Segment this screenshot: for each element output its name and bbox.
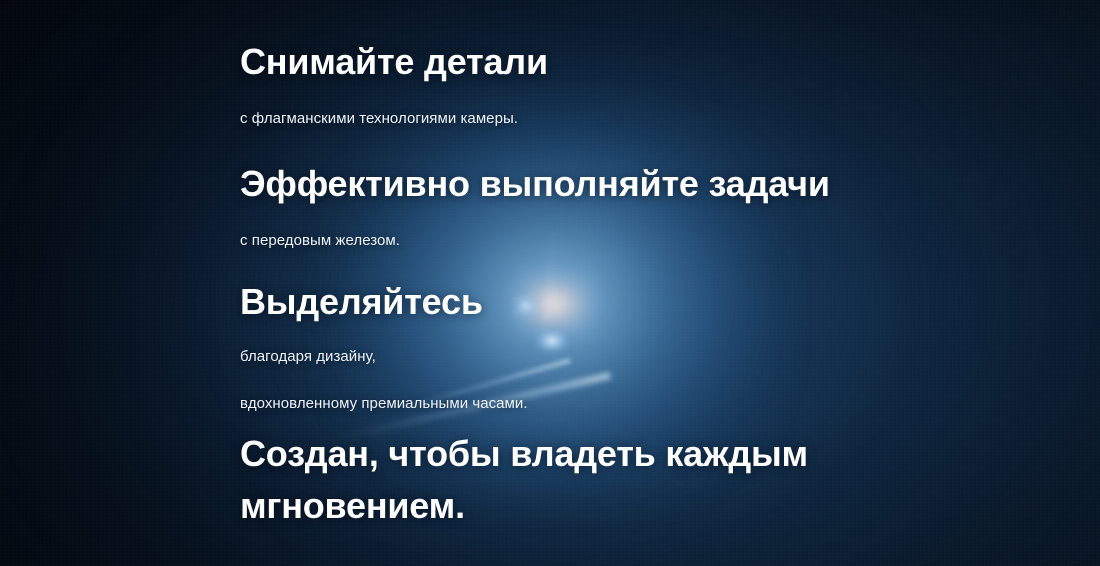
closing-headline-line-2: мгновением. bbox=[240, 480, 808, 532]
closing-headline-line-1: Создан, чтобы владеть каждым bbox=[240, 428, 808, 480]
closing-statement-block: Создан, чтобы владеть каждым мгновением. bbox=[240, 428, 808, 532]
feature-block-camera: Снимайте детали с флагманскими технологи… bbox=[240, 42, 548, 131]
promo-banner: Снимайте детали с флагманскими технологи… bbox=[0, 0, 1100, 566]
feature-headline-performance: Эффективно выполняйте задачи bbox=[240, 164, 830, 204]
feature-subline-design-line-1: благодаря дизайну, bbox=[240, 346, 528, 368]
feature-headline-camera: Снимайте детали bbox=[240, 42, 548, 82]
feature-block-design: Выделяйтесь благодаря дизайну, вдохновле… bbox=[240, 282, 528, 415]
feature-block-performance: Эффективно выполняйте задачи с передовым… bbox=[240, 164, 830, 253]
feature-subline-design-line-2: вдохновленному премиальными часами. bbox=[240, 393, 528, 415]
feature-subline-performance: с передовым железом. bbox=[240, 230, 830, 252]
banner-content: Снимайте детали с флагманскими технологи… bbox=[0, 0, 1100, 566]
feature-headline-design: Выделяйтесь bbox=[240, 282, 528, 322]
feature-subline-camera: с флагманскими технологиями камеры. bbox=[240, 108, 548, 130]
